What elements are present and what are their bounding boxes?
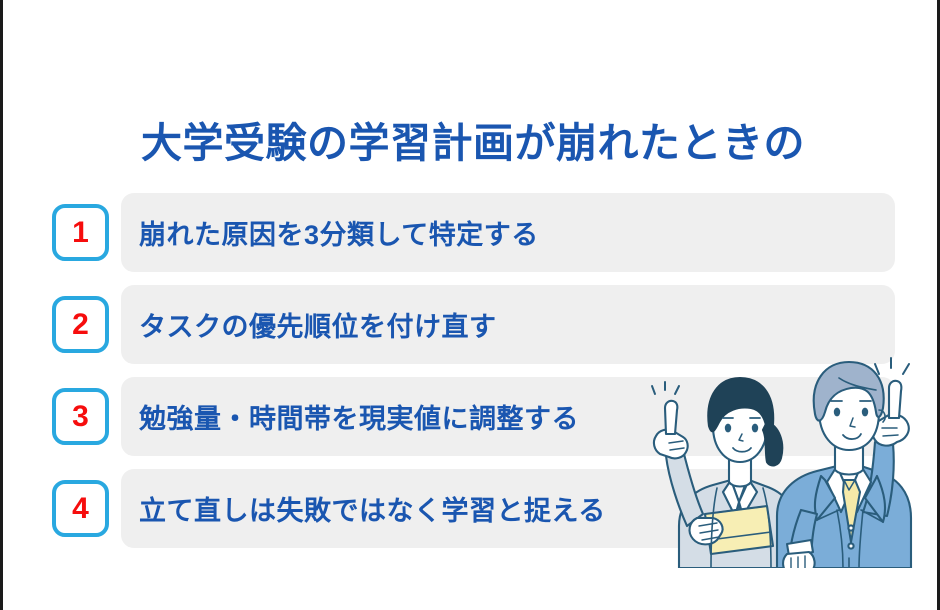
page-title-line-1: 大学受験の学習計画が崩れたときの bbox=[141, 120, 805, 166]
list-item-label: 崩れた原因を3分類して特定する bbox=[139, 193, 539, 272]
list-item-label: 勉強量・時間帯を現実値に調整する bbox=[139, 377, 579, 456]
list-item-label: タスクの優先順位を付け直す bbox=[139, 285, 497, 364]
list-item-label: 立て直しは失敗ではなく学習と捉える bbox=[139, 469, 606, 548]
list-item[interactable]: 3 勉強量・時間帯を現実値に調整する bbox=[3, 377, 940, 456]
list-item[interactable]: 1 崩れた原因を3分類して特定する bbox=[3, 193, 940, 272]
step-number: 1 bbox=[72, 218, 89, 248]
step-number: 4 bbox=[72, 494, 89, 524]
step-number: 3 bbox=[72, 402, 89, 432]
slide-canvas: 大学受験の学習計画が崩れたときの 立て直し方 1 崩れた原因を3分類して特定する… bbox=[0, 0, 940, 610]
step-number-badge: 3 bbox=[52, 388, 109, 445]
step-number: 2 bbox=[72, 310, 89, 340]
numbered-step-list: 1 崩れた原因を3分類して特定する 2 タスクの優先順位を付け直す 3 勉強量・… bbox=[3, 193, 940, 561]
step-number-badge: 2 bbox=[52, 296, 109, 353]
list-item[interactable]: 2 タスクの優先順位を付け直す bbox=[3, 285, 940, 364]
list-item[interactable]: 4 立て直しは失敗ではなく学習と捉える bbox=[3, 469, 940, 548]
step-number-badge: 4 bbox=[52, 480, 109, 537]
step-number-badge: 1 bbox=[52, 204, 109, 261]
